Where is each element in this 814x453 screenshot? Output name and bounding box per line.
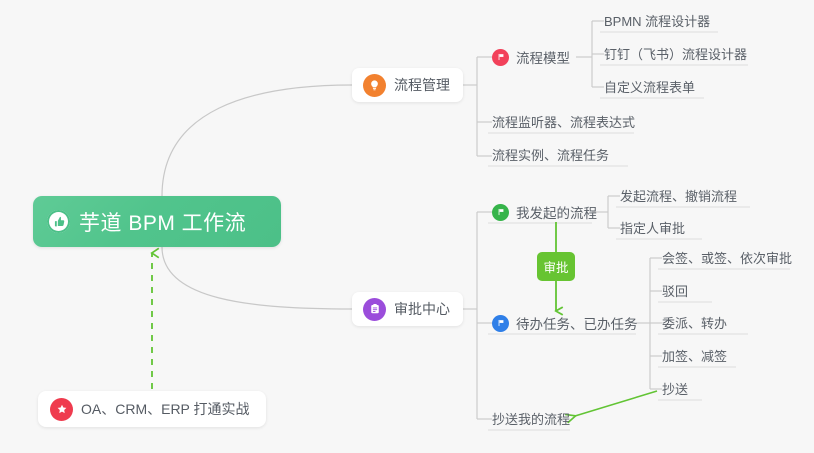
leaf-add-remove-sign[interactable]: 加签、减签: [662, 346, 727, 367]
integration-card[interactable]: OA、CRM、ERP 打通实战: [38, 391, 266, 427]
mindmap-canvas: 芋道 BPM 工作流 流程管理 审批中心: [0, 0, 814, 453]
leaf-process-listener-expression[interactable]: 流程监听器、流程表达式: [492, 112, 635, 133]
node-label-todo-done-tasks: 待办任务、已办任务: [516, 313, 638, 333]
branch-node-process-management[interactable]: 流程管理: [352, 68, 463, 102]
leaf-bpmn-designer[interactable]: BPMN 流程设计器: [604, 11, 710, 32]
leaf-assignee-approval[interactable]: 指定人审批: [620, 218, 685, 239]
approval-relation-badge-label: 审批: [543, 257, 568, 276]
leaf-start-cancel-process[interactable]: 发起流程、撤销流程: [620, 186, 737, 207]
node-todo-done-tasks[interactable]: 待办任务、已办任务: [492, 312, 638, 334]
thumbs-up-icon: [47, 210, 70, 233]
leaf-cc[interactable]: 抄送: [662, 379, 688, 400]
node-label-my-initiated-process: 我发起的流程: [516, 202, 597, 222]
branch-node-approval-center[interactable]: 审批中心: [352, 292, 463, 326]
node-process-model[interactable]: 流程模型: [492, 46, 570, 68]
leaf-reject[interactable]: 驳回: [662, 281, 688, 302]
star-icon: [50, 398, 73, 421]
leaf-countersign-or-sequential[interactable]: 会签、或签、依次审批: [662, 248, 792, 269]
leaf-process-instance-task[interactable]: 流程实例、流程任务: [492, 145, 609, 166]
root-node[interactable]: 芋道 BPM 工作流: [33, 196, 281, 247]
branch-label-approval-center: 审批中心: [394, 299, 450, 319]
branch-label-process-management: 流程管理: [394, 75, 450, 95]
clipboard-icon: [363, 298, 386, 321]
flag-icon: [492, 49, 509, 66]
node-label-process-model: 流程模型: [516, 47, 570, 67]
integration-card-label: OA、CRM、ERP 打通实战: [81, 399, 250, 419]
flag-icon: [492, 204, 509, 221]
approval-relation-badge[interactable]: 审批: [537, 252, 575, 281]
leaf-dingtalk-designer[interactable]: 钉钉（飞书）流程设计器: [604, 44, 747, 65]
flag-icon: [492, 315, 509, 332]
leaf-custom-form[interactable]: 自定义流程表单: [604, 77, 695, 98]
root-label: 芋道 BPM 工作流: [79, 207, 246, 237]
node-my-initiated-process[interactable]: 我发起的流程: [492, 201, 597, 223]
leaf-delegate-transfer[interactable]: 委派、转办: [662, 313, 727, 334]
lightbulb-icon: [363, 74, 386, 97]
leaf-cc-to-me-process[interactable]: 抄送我的流程: [492, 409, 570, 430]
